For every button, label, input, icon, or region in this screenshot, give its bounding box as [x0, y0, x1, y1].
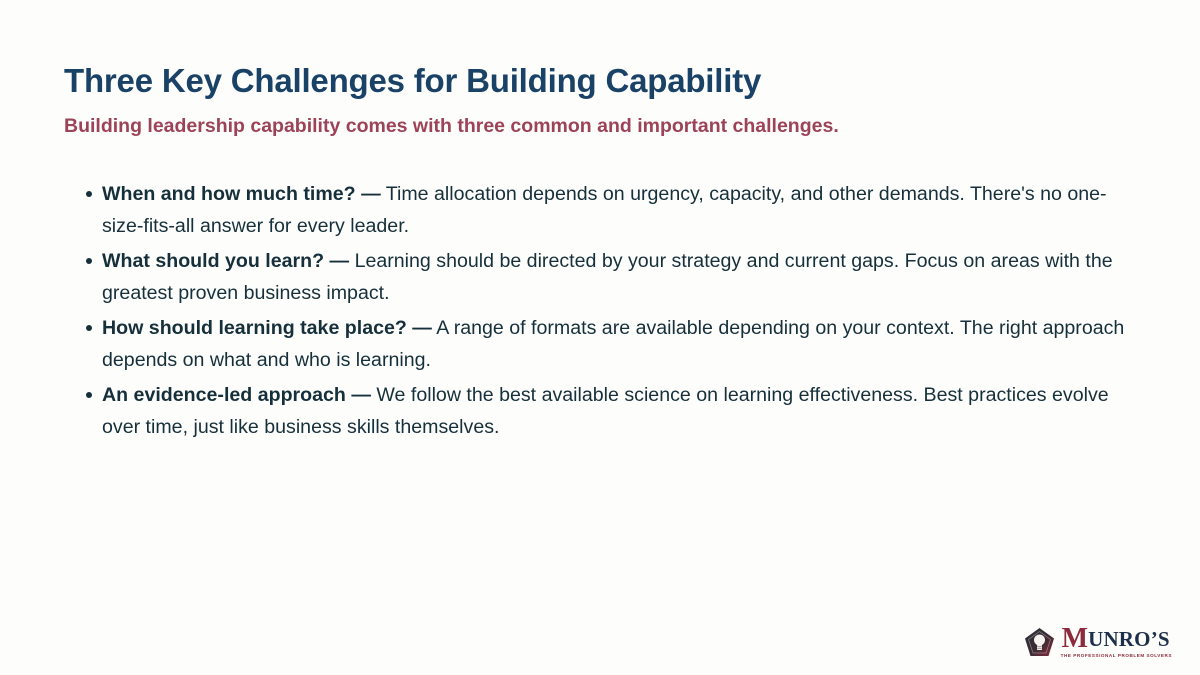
logo-wordmark: M UNRO’S	[1061, 628, 1172, 651]
page-subtitle: Building leadership capability comes wit…	[64, 114, 1136, 138]
list-item: How should learning take place? — A rang…	[64, 313, 1136, 377]
logo-name: UNRO’S	[1088, 629, 1170, 651]
logo-initial: M	[1061, 628, 1088, 651]
pentagon-lightbulb-icon	[1024, 627, 1055, 659]
list-item: What should you learn? — Learning should…	[64, 246, 1136, 310]
bullet-dot-icon	[86, 392, 92, 398]
challenges-list: When and how much time? — Time allocatio…	[64, 179, 1136, 444]
bullet-dot-icon	[86, 325, 92, 331]
list-item: An evidence-led approach — We follow the…	[64, 380, 1136, 444]
slide-canvas: Three Key Challenges for Building Capabi…	[0, 0, 1200, 675]
list-item-lead: When and how much time? —	[102, 183, 381, 205]
logo-text: M UNRO’S THE PROFESSIONAL PROBLEM SOLVER…	[1061, 628, 1172, 658]
list-item-lead: An evidence-led approach —	[102, 384, 371, 406]
bullet-dot-icon	[86, 191, 92, 197]
list-item-lead: What should you learn? —	[102, 250, 349, 272]
bullet-dot-icon	[86, 258, 92, 264]
page-title: Three Key Challenges for Building Capabi…	[64, 62, 1136, 100]
list-item-lead: How should learning take place? —	[102, 317, 432, 339]
list-item: When and how much time? — Time allocatio…	[64, 179, 1136, 243]
company-logo: M UNRO’S THE PROFESSIONAL PROBLEM SOLVER…	[1024, 627, 1172, 659]
